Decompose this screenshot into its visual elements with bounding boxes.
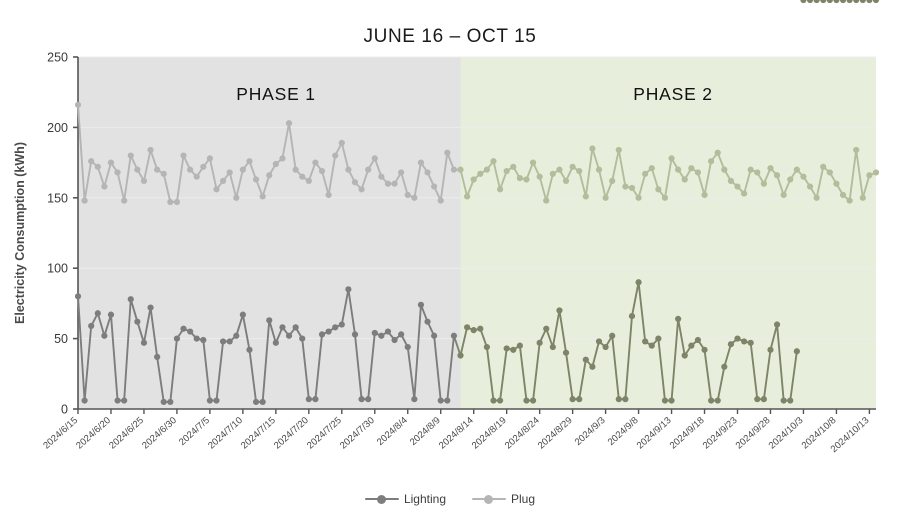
data-point-lighting — [675, 316, 681, 322]
data-point-plug — [570, 164, 576, 170]
chart-plot: PHASE 1PHASE 2050100150200250Electricity… — [0, 0, 900, 528]
data-point-plug — [622, 183, 628, 189]
data-point-plug — [352, 179, 358, 185]
data-point-plug — [220, 178, 226, 184]
chart-legend: LightingPlug — [0, 492, 900, 506]
data-point-plug — [405, 192, 411, 198]
data-point-plug — [114, 169, 120, 175]
data-point-plug — [734, 183, 740, 189]
data-point-plug — [424, 169, 430, 175]
data-point-lighting — [451, 333, 457, 339]
data-point-lighting — [194, 336, 200, 342]
data-point-lighting — [734, 336, 740, 342]
data-point-plug — [761, 181, 767, 187]
data-point-plug — [576, 168, 582, 174]
data-point-plug — [438, 198, 444, 204]
data-point-lighting — [187, 328, 193, 334]
data-point-lighting — [200, 337, 206, 343]
data-point-plug — [609, 178, 615, 184]
phase-band-1 — [78, 57, 461, 409]
data-point-lighting — [774, 321, 780, 327]
data-point-plug — [649, 165, 655, 171]
data-point-lighting — [220, 338, 226, 344]
data-point-lighting — [141, 340, 147, 346]
data-point-plug — [365, 167, 371, 173]
data-point-lighting — [635, 279, 641, 285]
y-tick-label-200: 200 — [47, 121, 68, 135]
data-point-lighting — [391, 337, 397, 343]
data-point-plug — [187, 167, 193, 173]
data-point-lighting — [682, 352, 688, 358]
data-point-plug — [82, 198, 88, 204]
data-point-plug — [774, 172, 780, 178]
data-point-lighting — [372, 330, 378, 336]
data-point-plug — [642, 171, 648, 177]
data-point-lighting — [668, 397, 674, 403]
data-point-lighting — [128, 296, 134, 302]
data-point-lighting — [807, 0, 813, 3]
x-tick-label-0: 2024/6/15 — [41, 415, 80, 451]
data-point-lighting — [629, 313, 635, 319]
x-tick-label-2: 2024/6/25 — [107, 415, 146, 451]
data-point-lighting — [537, 340, 543, 346]
data-point-lighting — [306, 396, 312, 402]
data-point-plug — [372, 155, 378, 161]
data-point-lighting — [840, 0, 846, 3]
legend-marker-plug-icon — [472, 493, 506, 505]
data-point-plug — [708, 158, 714, 164]
legend-label: Plug — [511, 492, 535, 506]
data-point-lighting — [431, 333, 437, 339]
data-point-lighting — [246, 347, 252, 353]
x-tick-label-13: 2024/8/19 — [470, 415, 509, 451]
data-point-plug — [787, 176, 793, 182]
data-point-plug — [398, 169, 404, 175]
data-point-plug — [128, 152, 134, 158]
data-point-plug — [701, 192, 707, 198]
data-point-lighting — [853, 0, 859, 3]
data-point-lighting — [596, 338, 602, 344]
data-point-plug — [688, 165, 694, 171]
data-point-plug — [767, 165, 773, 171]
data-point-plug — [200, 164, 206, 170]
data-point-plug — [339, 140, 345, 146]
data-point-plug — [312, 160, 318, 166]
data-point-lighting — [378, 333, 384, 339]
x-tick-label-16: 2024/9/3 — [573, 415, 608, 448]
data-point-lighting — [101, 333, 107, 339]
data-point-lighting — [490, 397, 496, 403]
data-point-plug — [464, 193, 470, 199]
data-point-lighting — [75, 293, 81, 299]
data-point-plug — [556, 167, 562, 173]
data-point-lighting — [227, 338, 233, 344]
data-point-plug — [451, 167, 457, 173]
data-point-plug — [820, 164, 826, 170]
data-point-lighting — [616, 396, 622, 402]
data-point-lighting — [398, 331, 404, 337]
data-point-plug — [161, 171, 167, 177]
data-point-lighting — [523, 397, 529, 403]
data-point-plug — [866, 172, 872, 178]
data-point-lighting — [88, 323, 94, 329]
data-point-lighting — [833, 0, 839, 3]
data-point-plug — [794, 167, 800, 173]
data-point-lighting — [438, 397, 444, 403]
data-point-lighting — [358, 396, 364, 402]
data-point-lighting — [484, 344, 490, 350]
data-point-lighting — [701, 347, 707, 353]
data-point-lighting — [312, 396, 318, 402]
data-point-plug — [490, 158, 496, 164]
data-point-plug — [781, 192, 787, 198]
data-point-plug — [504, 168, 510, 174]
data-point-plug — [358, 186, 364, 192]
data-point-lighting — [260, 399, 266, 405]
legend-label: Lighting — [404, 492, 446, 506]
data-point-plug — [391, 181, 397, 187]
data-point-lighting — [477, 326, 483, 332]
data-point-lighting — [299, 336, 305, 342]
x-tick-label-12: 2024/8/14 — [437, 415, 476, 451]
x-tick-label-10: 2024/8/4 — [375, 415, 410, 448]
data-point-plug — [754, 169, 760, 175]
data-point-plug — [293, 167, 299, 173]
data-point-plug — [668, 155, 674, 161]
data-point-plug — [814, 195, 820, 201]
data-point-plug — [319, 168, 325, 174]
data-point-plug — [530, 160, 536, 166]
data-point-lighting — [504, 345, 510, 351]
y-tick-label-150: 150 — [47, 191, 68, 205]
data-point-lighting — [286, 333, 292, 339]
data-point-plug — [213, 186, 219, 192]
data-point-lighting — [471, 327, 477, 333]
data-point-lighting — [866, 0, 872, 3]
data-point-lighting — [161, 399, 167, 405]
data-point-lighting — [873, 0, 879, 3]
data-point-lighting — [695, 337, 701, 343]
data-point-plug — [108, 160, 114, 166]
data-point-lighting — [781, 397, 787, 403]
x-tick-label-6: 2024/7/15 — [239, 415, 278, 451]
data-point-plug — [675, 167, 681, 173]
data-point-plug — [147, 147, 153, 153]
data-point-lighting — [464, 324, 470, 330]
data-point-plug — [207, 155, 213, 161]
data-point-lighting — [352, 331, 358, 337]
data-point-lighting — [767, 347, 773, 353]
data-point-plug — [517, 175, 523, 181]
y-tick-label-50: 50 — [54, 332, 68, 346]
data-point-plug — [332, 152, 338, 158]
data-point-lighting — [180, 326, 186, 332]
data-point-lighting — [517, 343, 523, 349]
x-tick-label-5: 2024/7/10 — [206, 415, 245, 451]
data-point-plug — [477, 171, 483, 177]
x-tick-label-15: 2024/8/29 — [536, 415, 575, 451]
data-point-plug — [194, 174, 200, 180]
data-point-lighting — [715, 397, 721, 403]
x-tick-label-21: 2024/9/28 — [734, 415, 773, 451]
data-point-plug — [88, 158, 94, 164]
data-point-lighting — [609, 333, 615, 339]
y-axis-title: Electricity Consumption (kWh) — [13, 142, 27, 324]
data-point-plug — [326, 192, 332, 198]
x-tick-label-14: 2024/8/24 — [503, 415, 542, 451]
data-point-lighting — [622, 396, 628, 402]
data-point-plug — [299, 174, 305, 180]
data-point-plug — [457, 167, 463, 173]
data-point-lighting — [794, 348, 800, 354]
data-point-plug — [807, 183, 813, 189]
data-point-lighting — [721, 364, 727, 370]
data-point-plug — [431, 183, 437, 189]
data-point-lighting — [649, 343, 655, 349]
x-tick-label-18: 2024/9/13 — [635, 415, 674, 451]
data-point-plug — [800, 174, 806, 180]
data-point-lighting — [405, 344, 411, 350]
x-tick-label-8: 2024/7/25 — [305, 415, 344, 451]
x-tick-label-9: 2024/7/30 — [338, 415, 377, 451]
data-point-lighting — [728, 341, 734, 347]
data-point-plug — [418, 160, 424, 166]
data-point-lighting — [95, 310, 101, 316]
data-point-plug — [240, 167, 246, 173]
data-point-lighting — [563, 350, 569, 356]
data-point-plug — [286, 120, 292, 126]
legend-marker-lighting-icon — [365, 493, 399, 505]
y-tick-label-0: 0 — [61, 403, 68, 417]
data-point-plug — [833, 181, 839, 187]
data-point-lighting — [134, 319, 140, 325]
data-point-lighting — [800, 0, 806, 3]
data-point-plug — [629, 185, 635, 191]
data-point-plug — [853, 147, 859, 153]
data-point-plug — [279, 155, 285, 161]
data-point-plug — [695, 169, 701, 175]
data-point-plug — [728, 178, 734, 184]
data-point-lighting — [114, 397, 120, 403]
data-point-plug — [655, 186, 661, 192]
data-point-lighting — [510, 347, 516, 353]
data-point-plug — [616, 147, 622, 153]
data-point-plug — [273, 161, 279, 167]
data-point-lighting — [642, 338, 648, 344]
data-point-lighting — [266, 317, 272, 323]
data-point-plug — [253, 176, 259, 182]
data-point-lighting — [240, 312, 246, 318]
data-point-lighting — [385, 328, 391, 334]
data-point-lighting — [365, 396, 371, 402]
data-point-plug — [510, 164, 516, 170]
data-point-lighting — [787, 397, 793, 403]
data-point-lighting — [860, 0, 866, 3]
data-point-plug — [543, 198, 549, 204]
data-point-lighting — [583, 357, 589, 363]
data-point-plug — [174, 199, 180, 205]
data-point-plug — [75, 102, 81, 108]
phase-label-2: PHASE 2 — [633, 84, 713, 104]
legend-item-plug[interactable]: Plug — [472, 492, 535, 506]
phase-label-1: PHASE 1 — [236, 84, 316, 104]
data-point-lighting — [411, 396, 417, 402]
data-point-lighting — [589, 364, 595, 370]
data-point-plug — [266, 172, 272, 178]
data-point-plug — [345, 167, 351, 173]
data-point-lighting — [345, 286, 351, 292]
data-point-lighting — [761, 396, 767, 402]
data-point-plug — [537, 174, 543, 180]
data-point-plug — [682, 176, 688, 182]
data-point-plug — [154, 167, 160, 173]
data-point-plug — [141, 178, 147, 184]
data-point-lighting — [576, 396, 582, 402]
data-point-plug — [378, 174, 384, 180]
legend-dot — [377, 495, 386, 504]
data-point-lighting — [108, 312, 114, 318]
data-point-lighting — [121, 397, 127, 403]
data-point-lighting — [754, 396, 760, 402]
data-point-plug — [860, 195, 866, 201]
data-point-lighting — [418, 302, 424, 308]
data-point-lighting — [213, 397, 219, 403]
legend-dot — [484, 495, 493, 504]
data-point-plug — [715, 150, 721, 156]
x-tick-label-22: 2024/10/3 — [767, 415, 806, 451]
data-point-plug — [484, 167, 490, 173]
data-point-plug — [306, 178, 312, 184]
data-point-plug — [246, 158, 252, 164]
data-point-lighting — [847, 0, 853, 3]
data-point-lighting — [497, 397, 503, 403]
data-point-plug — [121, 198, 127, 204]
data-point-lighting — [293, 324, 299, 330]
data-point-lighting — [603, 344, 609, 350]
data-point-lighting — [424, 319, 430, 325]
data-point-plug — [180, 152, 186, 158]
data-point-plug — [227, 169, 233, 175]
data-point-plug — [471, 176, 477, 182]
data-point-plug — [95, 164, 101, 170]
data-point-plug — [411, 195, 417, 201]
data-point-plug — [589, 145, 595, 151]
data-point-lighting — [655, 336, 661, 342]
data-point-lighting — [444, 397, 450, 403]
data-point-plug — [563, 178, 569, 184]
data-point-plug — [523, 176, 529, 182]
data-point-lighting — [570, 396, 576, 402]
data-point-lighting — [167, 399, 173, 405]
data-point-plug — [847, 198, 853, 204]
data-point-lighting — [233, 333, 239, 339]
data-point-lighting — [279, 324, 285, 330]
data-point-lighting — [530, 397, 536, 403]
data-point-lighting — [332, 324, 338, 330]
data-point-lighting — [688, 343, 694, 349]
data-point-lighting — [556, 307, 562, 313]
data-point-lighting — [154, 354, 160, 360]
data-point-lighting — [748, 340, 754, 346]
data-point-lighting — [741, 338, 747, 344]
data-point-lighting — [174, 336, 180, 342]
data-point-plug — [497, 186, 503, 192]
data-point-lighting — [82, 397, 88, 403]
data-point-lighting — [708, 397, 714, 403]
data-point-lighting — [326, 328, 332, 334]
data-point-plug — [134, 167, 140, 173]
data-point-plug — [583, 193, 589, 199]
data-point-lighting — [827, 0, 833, 3]
x-tick-label-7: 2024/7/20 — [272, 415, 311, 451]
data-point-lighting — [319, 331, 325, 337]
data-point-plug — [385, 181, 391, 187]
data-point-lighting — [550, 344, 556, 350]
data-point-plug — [550, 171, 556, 177]
data-point-lighting — [147, 305, 153, 311]
data-point-plug — [721, 167, 727, 173]
data-point-plug — [596, 167, 602, 173]
x-tick-label-1: 2024/6/20 — [74, 415, 113, 451]
data-point-lighting — [207, 397, 213, 403]
data-point-plug — [233, 195, 239, 201]
data-point-plug — [827, 169, 833, 175]
data-point-plug — [101, 183, 107, 189]
x-tick-label-19: 2024/9/18 — [668, 415, 707, 451]
data-point-lighting — [543, 326, 549, 332]
data-point-lighting — [253, 399, 259, 405]
data-point-plug — [840, 192, 846, 198]
phase-band-2 — [461, 57, 876, 409]
data-point-lighting — [814, 0, 820, 3]
data-point-lighting — [662, 397, 668, 403]
data-point-plug — [444, 150, 450, 156]
chart-container: JUNE 16 – OCT 15 PHASE 1PHASE 2050100150… — [0, 0, 900, 528]
data-point-plug — [873, 169, 879, 175]
data-point-plug — [167, 199, 173, 205]
data-point-lighting — [273, 340, 279, 346]
data-point-lighting — [820, 0, 826, 3]
x-tick-label-20: 2024/9/23 — [701, 415, 740, 451]
data-point-plug — [260, 193, 266, 199]
legend-item-lighting[interactable]: Lighting — [365, 492, 446, 506]
data-point-plug — [662, 195, 668, 201]
y-tick-label-100: 100 — [47, 262, 68, 276]
y-tick-label-250: 250 — [47, 51, 68, 65]
data-point-plug — [603, 195, 609, 201]
data-point-plug — [748, 167, 754, 173]
data-point-lighting — [457, 352, 463, 358]
data-point-plug — [741, 190, 747, 196]
x-tick-label-3: 2024/6/30 — [140, 415, 179, 451]
data-point-lighting — [339, 321, 345, 327]
data-point-plug — [635, 195, 641, 201]
